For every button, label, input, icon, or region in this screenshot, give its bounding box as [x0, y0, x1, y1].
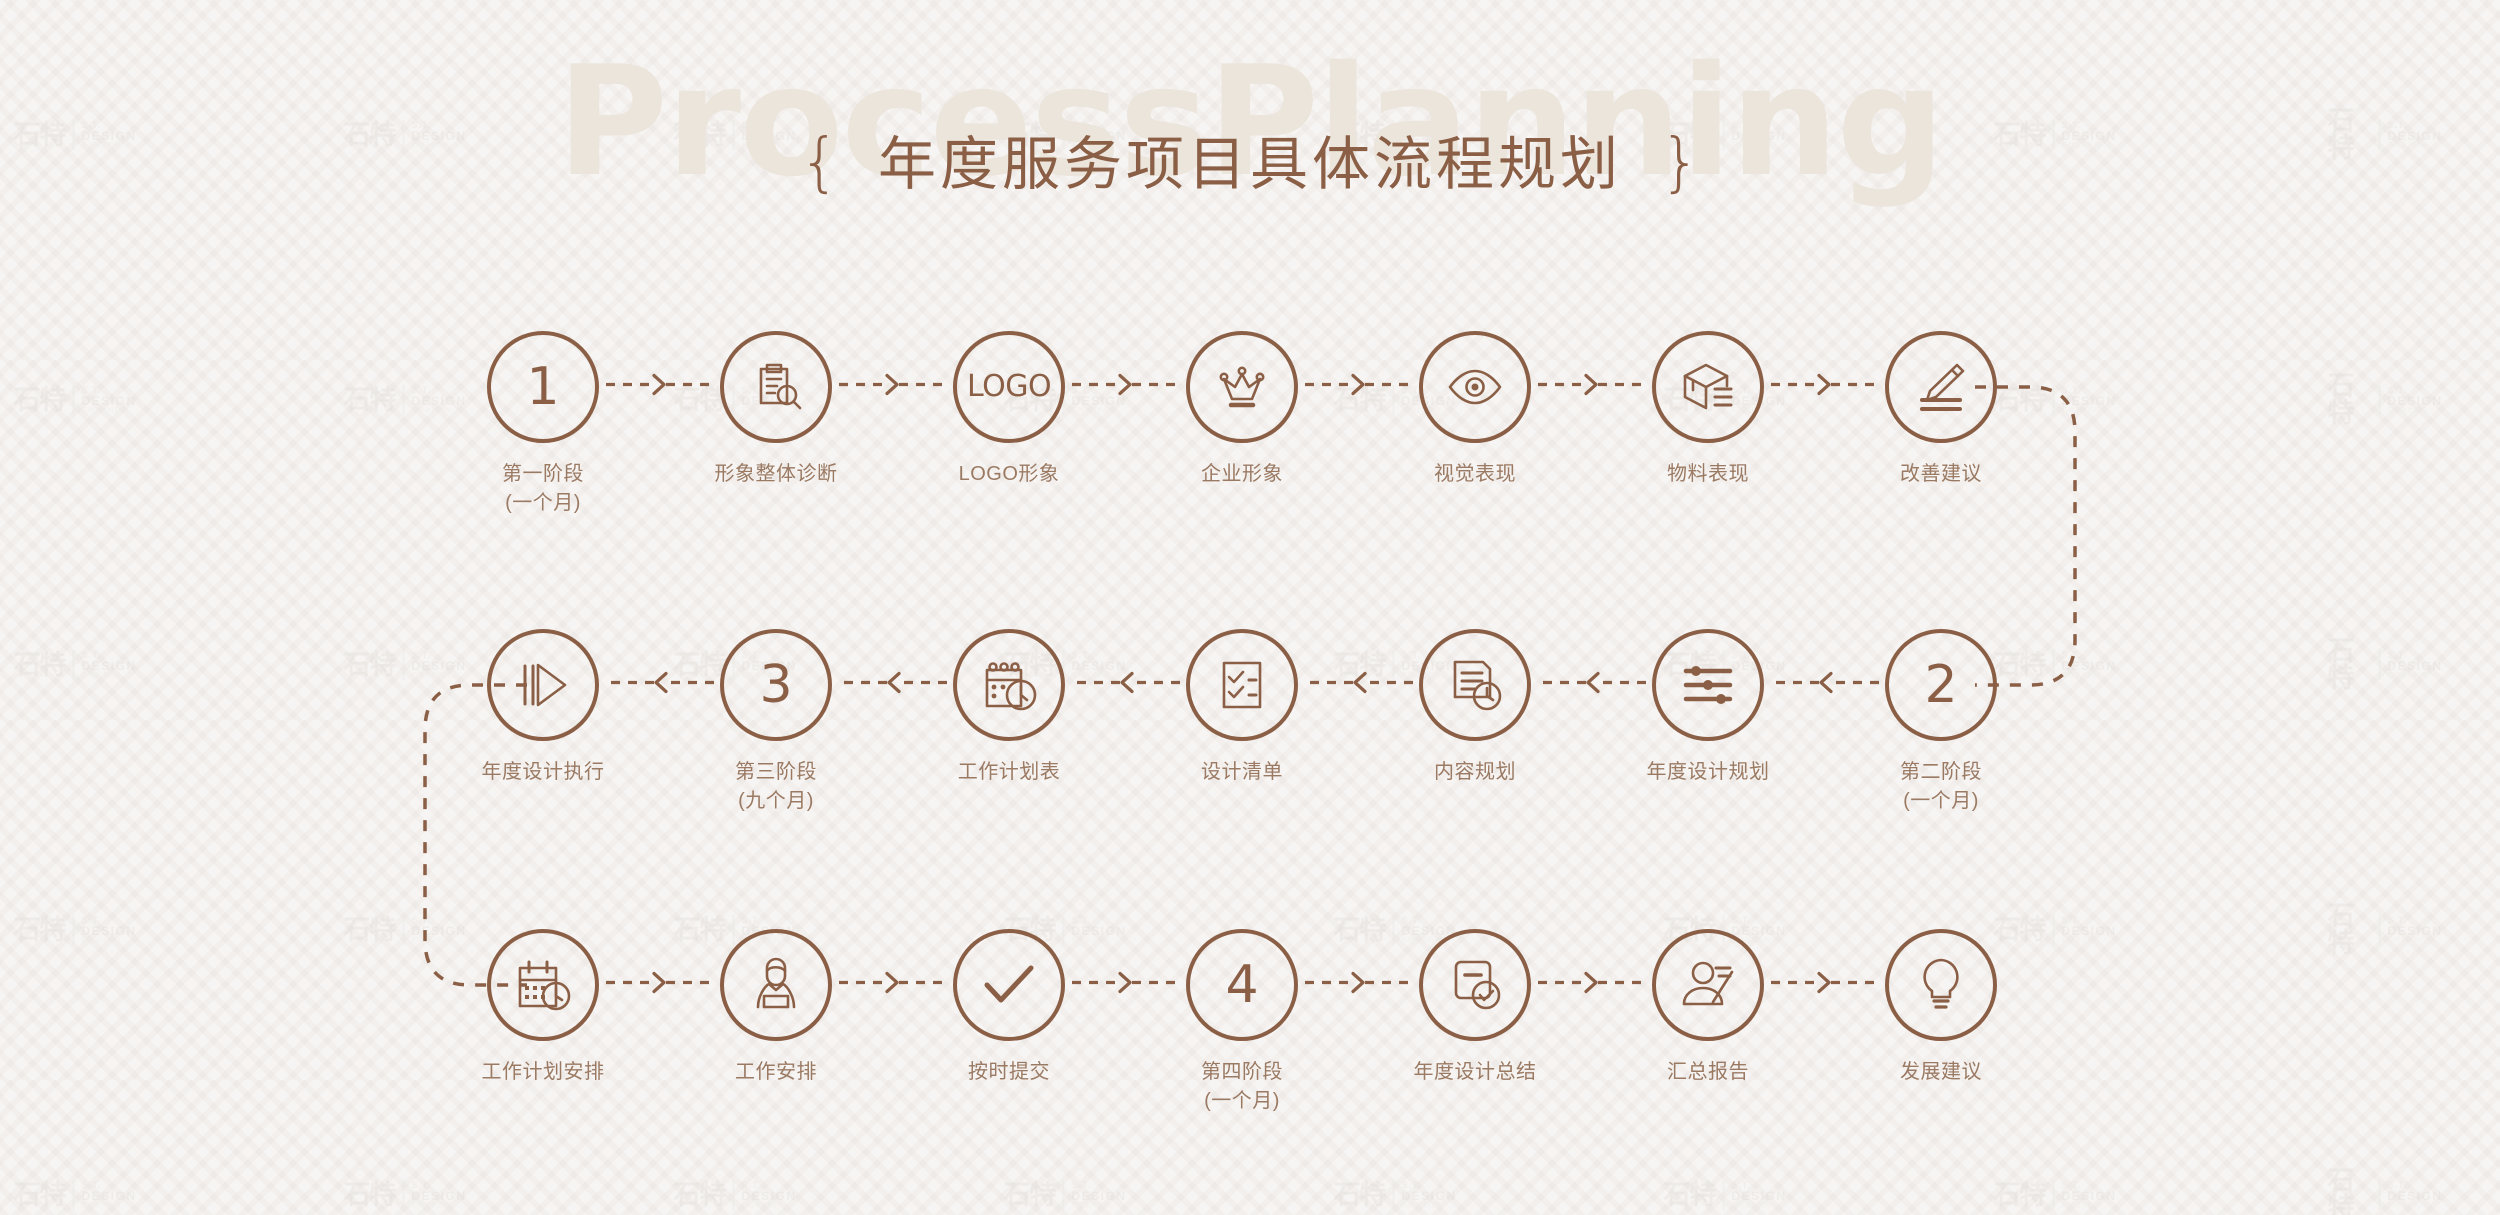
flow-node-r2n5[interactable]: 内容规划 [1385, 629, 1565, 787]
flow-node-r1n6[interactable]: 物料表现 [1618, 331, 1798, 489]
flow-diagram-canvas: 石特S.T.DESIGN石特设计机构石特S.T.DESIGN石特设计机构石特S.… [0, 0, 2500, 1215]
node-label: 第一阶段 (一个月) [453, 460, 633, 518]
watermark-logo: 石特S.T.DESIGN石特设计机构 [13, 650, 136, 680]
document-clock-icon [1444, 654, 1506, 716]
watermark-logo: 石特S.T.DESIGN石特设计机构 [13, 915, 136, 945]
flow-arrow-right [1536, 970, 1648, 1001]
node-label: LOGO形象 [919, 460, 1099, 489]
flow-arrow-right [1769, 372, 1881, 403]
clipboard-search-icon [745, 356, 807, 418]
watermark-logo: 石特S.T.DESIGN石特设计机构 [2328, 638, 2443, 692]
node-ring [1419, 929, 1531, 1041]
flow-arrow-left [1303, 670, 1415, 701]
node-ring [1652, 929, 1764, 1041]
person-desk-icon [745, 954, 807, 1016]
node-label: 年度设计执行 [453, 758, 633, 787]
node-ring [1652, 629, 1764, 741]
lightbulb-icon [1910, 954, 1972, 1016]
node-ring [1419, 331, 1531, 443]
node-ring [1186, 629, 1298, 741]
flow-node-r1n2[interactable]: 形象整体诊断 [686, 331, 866, 489]
node-label: 第二阶段 (一个月) [1851, 758, 2031, 816]
flow-arrow-right [1769, 970, 1881, 1001]
node-ring [1419, 629, 1531, 741]
flow-node-r2n3[interactable]: 工作计划表 [919, 629, 1099, 787]
flow-node-r1n4[interactable]: 企业形象 [1152, 331, 1332, 489]
flow-arrow-left [1769, 670, 1881, 701]
watermark-logo: 石特S.T.DESIGN石特设计机构 [13, 1180, 136, 1210]
checklist-icon [1211, 654, 1273, 716]
flow-node-r3n1[interactable]: 工作计划安排 [453, 929, 633, 1087]
flow-arrow-right [837, 372, 949, 403]
flow-node-r3n3[interactable]: 按时提交 [919, 929, 1099, 1087]
node-ring: 4 [1186, 929, 1298, 1041]
watermark-logo: 石特S.T.DESIGN石特设计机构 [343, 1180, 466, 1210]
step-number: 3 [759, 659, 792, 711]
watermark-logo: 石特S.T.DESIGN石特设计机构 [343, 385, 466, 415]
node-ring: 3 [720, 629, 832, 741]
watermark-logo: 石特S.T.DESIGN石特设计机构 [343, 650, 466, 680]
node-ring [1885, 929, 1997, 1041]
flow-node-r1n3[interactable]: LOGOLOGO形象 [919, 331, 1099, 489]
node-label: 形象整体诊断 [686, 460, 866, 489]
calendar-clock-solid-icon [512, 954, 574, 1016]
node-label: 第四阶段 (一个月) [1152, 1058, 1332, 1116]
box-lines-icon [1677, 356, 1739, 418]
step-number: 4 [1225, 959, 1258, 1011]
flow-arrow-right [604, 970, 716, 1001]
flow-node-r1n1[interactable]: 1第一阶段 (一个月) [453, 331, 633, 518]
node-label: 工作计划安排 [453, 1058, 633, 1087]
watermark-logo: 石特S.T.DESIGN石特设计机构 [1993, 1180, 2116, 1210]
node-label: 工作安排 [686, 1058, 866, 1087]
play-bars-icon [512, 654, 574, 716]
node-ring [487, 629, 599, 741]
sliders-icon [1677, 654, 1739, 716]
node-ring [487, 929, 599, 1041]
flow-arrow-right [1536, 372, 1648, 403]
step-number: 1 [526, 361, 559, 413]
node-label: 企业形象 [1152, 460, 1332, 489]
flow-node-r3n7[interactable]: 发展建议 [1851, 929, 2031, 1087]
pen-underline-icon [1910, 356, 1972, 418]
node-label: 第三阶段 (九个月) [686, 758, 866, 816]
node-label: 工作计划表 [919, 758, 1099, 787]
node-label: 物料表现 [1618, 460, 1798, 489]
document-check-icon [1444, 954, 1506, 1016]
brace-left-icon: { [799, 131, 840, 195]
step-number: 2 [1924, 659, 1957, 711]
flow-node-r2n4[interactable]: 设计清单 [1152, 629, 1332, 787]
flow-node-r1n7[interactable]: 改善建议 [1851, 331, 2031, 489]
node-ring: 2 [1885, 629, 1997, 741]
flow-node-r3n5[interactable]: 年度设计总结 [1385, 929, 1565, 1087]
check-icon [978, 954, 1040, 1016]
crown-icon [1211, 356, 1273, 418]
flow-node-r1n5[interactable]: 视觉表现 [1385, 331, 1565, 489]
watermark-logo: 石特S.T.DESIGN石特设计机构 [1333, 1180, 1456, 1210]
flow-arrow-left [1536, 670, 1648, 701]
node-label: 年度设计规划 [1618, 758, 1798, 787]
node-label: 年度设计总结 [1385, 1058, 1565, 1087]
page-title-text: 年度服务项目具体流程规划 [878, 136, 1622, 194]
flow-node-r3n6[interactable]: 汇总报告 [1618, 929, 1798, 1087]
node-ring [1885, 331, 1997, 443]
flow-arrow-right [1303, 970, 1415, 1001]
watermark-logo: 石特S.T.DESIGN石特设计机构 [673, 1180, 796, 1210]
node-label: 设计清单 [1152, 758, 1332, 787]
watermark-logo: 石特S.T.DESIGN石特设计机构 [1663, 1180, 1786, 1210]
page-title: { 年度服务项目具体流程规划 } [0, 135, 2500, 195]
node-ring [720, 331, 832, 443]
node-ring: 1 [487, 331, 599, 443]
watermark-logo: 石特S.T.DESIGN石特设计机构 [343, 915, 466, 945]
flow-arrow-right [1070, 970, 1182, 1001]
calendar-clock-icon [978, 654, 1040, 716]
node-label: 内容规划 [1385, 758, 1565, 787]
node-ring [1186, 331, 1298, 443]
flow-node-r2n2[interactable]: 3第三阶段 (九个月) [686, 629, 866, 816]
node-ring [953, 929, 1065, 1041]
node-ring [720, 929, 832, 1041]
node-ring: LOGO [953, 331, 1065, 443]
brace-right-icon: } [1660, 131, 1701, 195]
flow-node-r2n7[interactable]: 2第二阶段 (一个月) [1851, 629, 2031, 816]
node-ring [953, 629, 1065, 741]
flow-arrow-right [837, 970, 949, 1001]
watermark-logo: 石特S.T.DESIGN石特设计机构 [2328, 373, 2443, 427]
logo-text: LOGO [967, 372, 1051, 402]
watermark-logo: 石特S.T.DESIGN石特设计机构 [1003, 1180, 1126, 1210]
flow-node-r2n6[interactable]: 年度设计规划 [1618, 629, 1798, 787]
flow-arrow-left [604, 670, 716, 701]
flow-arrow-left [1070, 670, 1182, 701]
flow-node-r2n1[interactable]: 年度设计执行 [453, 629, 633, 787]
eye-icon [1444, 356, 1506, 418]
node-label: 按时提交 [919, 1058, 1099, 1087]
flow-node-r3n2[interactable]: 工作安排 [686, 929, 866, 1087]
node-label: 视觉表现 [1385, 460, 1565, 489]
watermark-logo: 石特S.T.DESIGN石特设计机构 [13, 385, 136, 415]
node-ring [1652, 331, 1764, 443]
watermark-logo: 石特S.T.DESIGN石特设计机构 [2328, 903, 2443, 957]
flow-arrow-right [1303, 372, 1415, 403]
node-label: 汇总报告 [1618, 1058, 1798, 1087]
watermark-logo: 石特S.T.DESIGN石特设计机构 [2328, 1168, 2443, 1215]
flow-node-r3n4[interactable]: 4第四阶段 (一个月) [1152, 929, 1332, 1116]
flow-arrow-left [837, 670, 949, 701]
node-label: 发展建议 [1851, 1058, 2031, 1087]
node-label: 改善建议 [1851, 460, 2031, 489]
person-report-icon [1677, 954, 1739, 1016]
flow-arrow-right [1070, 372, 1182, 403]
flow-arrow-right [604, 372, 716, 403]
